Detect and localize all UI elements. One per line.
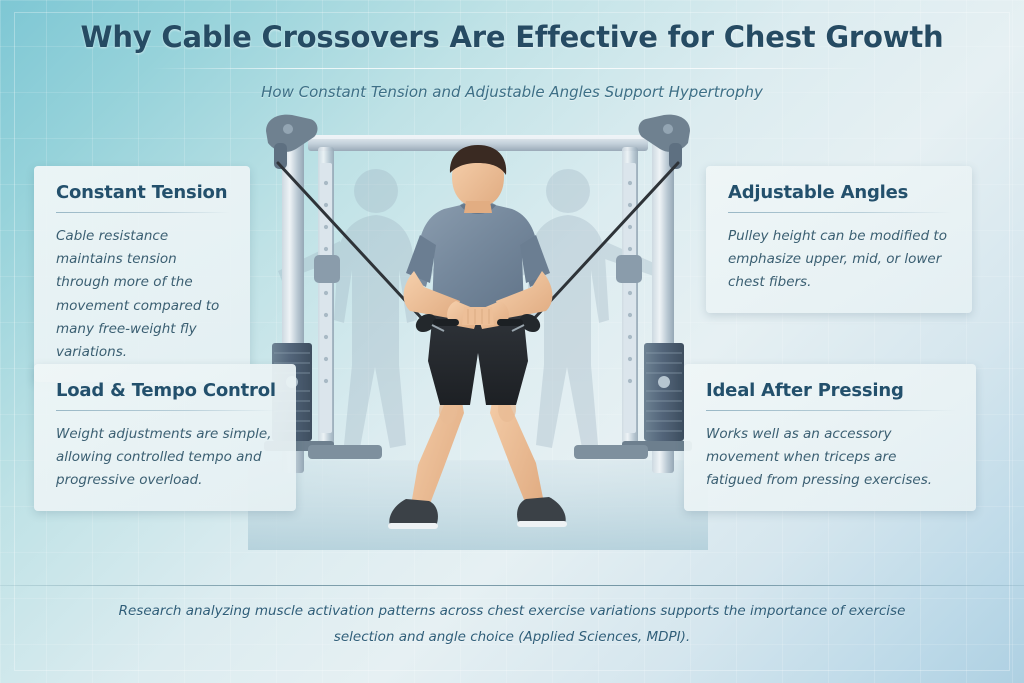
right-adjustment-rail [624, 163, 636, 433]
card-title: Ideal After Pressing [706, 380, 956, 410]
footer: Research analyzing muscle activation pat… [0, 598, 1024, 651]
info-card-load-tempo-control: Load & Tempo Control Weight adjustments … [34, 364, 296, 511]
card-title: Adjustable Angles [728, 182, 952, 212]
header: Why Cable Crossovers Are Effective for C… [0, 20, 1024, 101]
right-carriage [616, 255, 642, 283]
footer-citation: Research analyzing muscle activation pat… [90, 598, 934, 651]
left-adjustment-rail [320, 163, 332, 433]
neck [464, 201, 492, 213]
info-card-constant-tension: Constant Tension Cable resistance mainta… [34, 166, 250, 382]
title-divider [152, 68, 872, 69]
card-title: Load & Tempo Control [56, 380, 276, 410]
card-divider [706, 410, 956, 411]
floor [248, 460, 708, 550]
card-body: Works well as an accessory movement when… [706, 423, 956, 493]
card-divider [56, 212, 230, 213]
page-subtitle: How Constant Tension and Adjustable Angl… [0, 83, 1024, 101]
card-divider [728, 212, 952, 213]
info-card-adjustable-angles: Adjustable Angles Pulley height can be m… [706, 166, 972, 313]
page-title: Why Cable Crossovers Are Effective for C… [0, 20, 1024, 54]
card-body: Weight adjustments are simple, allowing … [56, 423, 276, 493]
card-body: Pulley height can be modified to emphasi… [728, 225, 952, 295]
illustration-cable-crossover [248, 105, 708, 550]
card-divider [56, 410, 276, 411]
card-title: Constant Tension [56, 182, 230, 212]
left-carriage [314, 255, 340, 283]
infographic-canvas: Why Cable Crossovers Are Effective for C… [0, 0, 1024, 683]
info-card-ideal-after-pressing: Ideal After Pressing Works well as an ac… [684, 364, 976, 511]
card-body: Cable resistance maintains tension throu… [56, 225, 230, 364]
footer-divider [0, 585, 1024, 586]
